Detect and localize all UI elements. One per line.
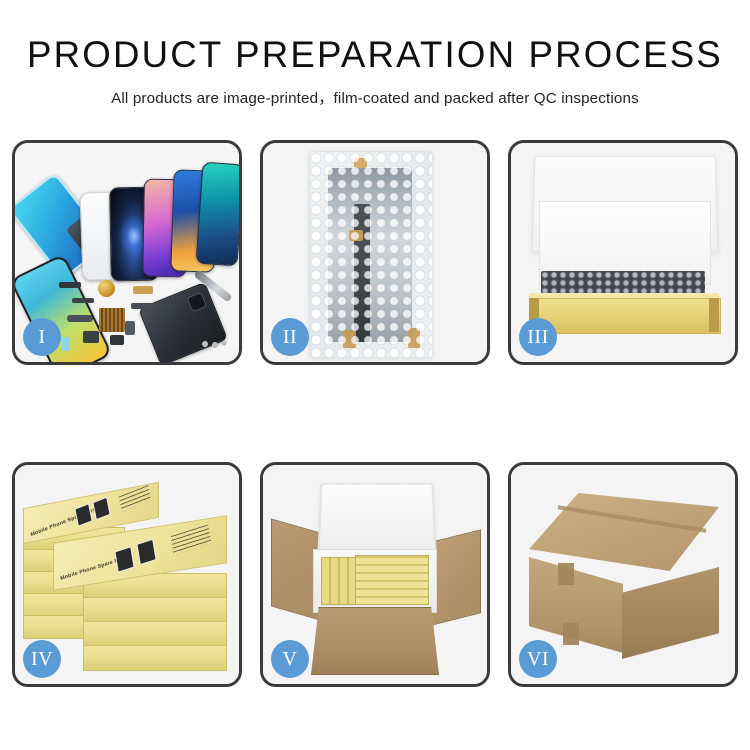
tape-piece-1 [354, 158, 367, 168]
small-screen-part [61, 337, 70, 351]
panel-step-5: V [260, 462, 490, 687]
copper-coil-part [98, 280, 115, 297]
box-label-phone-img-2 [92, 497, 110, 521]
packed-yellow-boxes-right [355, 555, 429, 605]
tape-piece-4 [408, 328, 420, 348]
carton-tape-upper [558, 563, 574, 585]
wrapped-part-body [328, 168, 412, 342]
page-title: PRODUCT PREPARATION PROCESS [4, 36, 747, 73]
panel-step-3: III [508, 140, 738, 365]
panel-step-4: Mobile Phone Spare Parts Mobile Phone Sp… [12, 462, 242, 687]
box-tab-right [709, 298, 719, 332]
module-part-3 [125, 321, 135, 335]
phone-back-housing [138, 282, 228, 365]
panel-step-6: VI [508, 462, 738, 687]
gold-connector-part [133, 286, 153, 294]
box-label-phone-img-4 [136, 539, 156, 566]
screws-group [201, 339, 227, 349]
module-part-1 [83, 331, 99, 343]
tape-piece-3 [343, 330, 356, 348]
step-badge-2: II [271, 318, 309, 356]
stacked-box-r3 [83, 621, 227, 647]
flex-cable-part-3 [131, 303, 155, 309]
step-badge-6: VI [519, 640, 557, 678]
carton-front-panel [311, 607, 439, 675]
step-badge-4: IV [23, 640, 61, 678]
chip-array-part [99, 308, 125, 332]
wrapped-part-strip [354, 204, 370, 342]
black-strip-part [59, 282, 81, 288]
carton-right-face [622, 567, 719, 659]
module-part-2 [110, 335, 124, 345]
box-label-phone-img-1 [74, 503, 92, 527]
phone-teal-wave [195, 162, 242, 267]
box-front-yellow [529, 298, 721, 334]
process-panel-grid: I II III [12, 140, 738, 687]
page-subtitle: All products are image-printed，film-coat… [0, 86, 750, 108]
flex-cable-part-2 [67, 315, 93, 322]
stacked-box-r2 [83, 597, 227, 623]
bubble-wrap-bag [309, 151, 433, 358]
step-badge-3: III [519, 318, 557, 356]
step-badge-5: V [271, 640, 309, 678]
stacked-box-r4 [83, 645, 227, 671]
box-label-lines-back [119, 485, 152, 512]
page-header: PRODUCT PREPARATION PROCESS All products… [0, 0, 750, 108]
panel-step-1: I [12, 140, 242, 365]
tape-piece-2 [349, 230, 363, 241]
box-label-phone-img-3 [114, 546, 134, 573]
foam-lid [317, 483, 437, 557]
box-label-lines-front [171, 524, 212, 555]
step-badge-1: I [23, 318, 61, 356]
carton-tape-lower [563, 623, 579, 645]
flex-cable-part-1 [72, 298, 94, 303]
panel-step-2: II [260, 140, 490, 365]
